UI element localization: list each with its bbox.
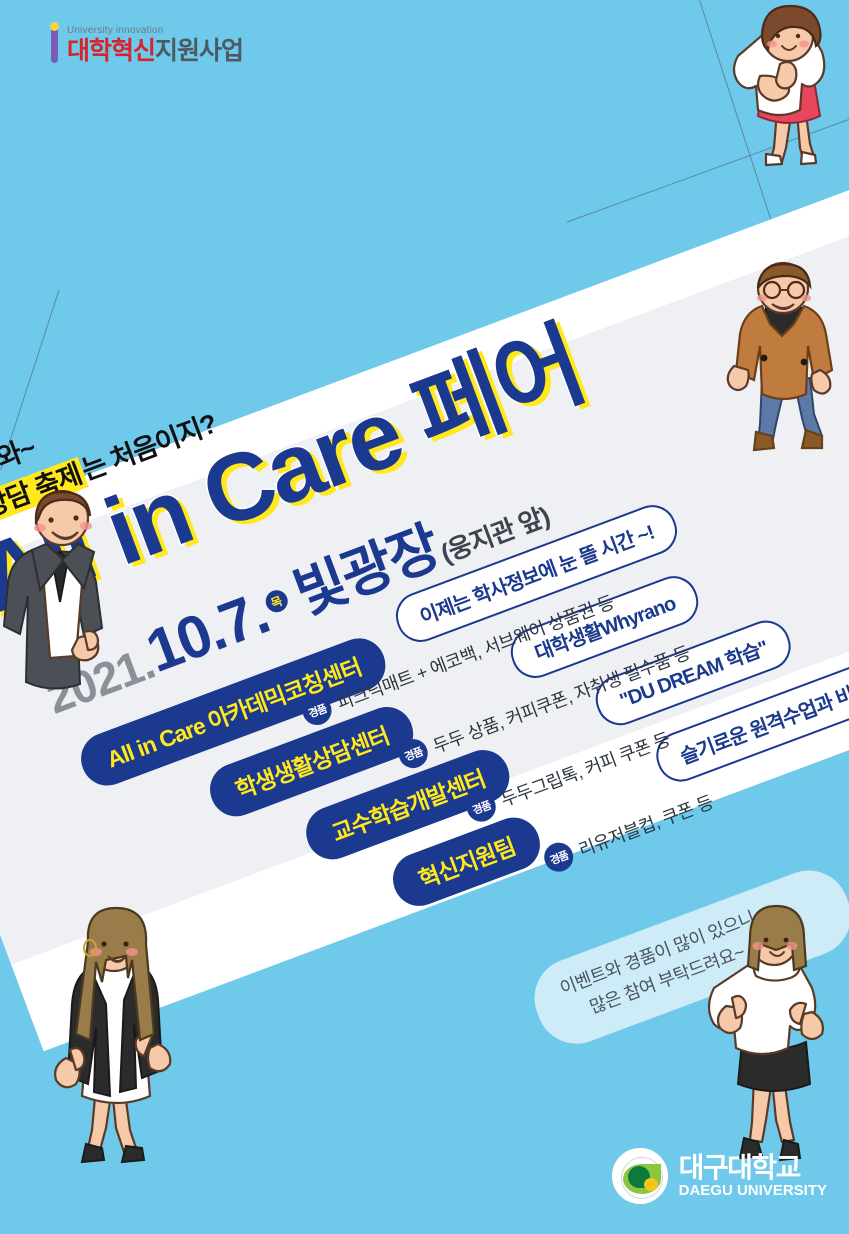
character-man-tan-jacket-glasses — [718, 262, 849, 462]
poster-canvas: University innovation 대학혁신지원사업 어서 와~ 상담 … — [0, 0, 849, 1234]
character-woman-white-sweater-black-skirt — [692, 902, 849, 1164]
logo-english-label: University innovation — [67, 26, 243, 36]
daegu-university-seal-icon — [612, 1148, 668, 1204]
character-woman-white-blouse-red-skirt — [722, 2, 849, 174]
daegu-university-logo: 대구대학교 DAEGU UNIVERSITY — [612, 1148, 827, 1204]
university-name-english: DAEGU UNIVERSITY — [679, 1183, 827, 1199]
university-name-korean: 대구대학교 — [679, 1153, 827, 1182]
character-woman-long-hair-white-dress — [28, 898, 200, 1170]
rainbow-u-mark-icon — [26, 22, 60, 64]
program-prize: 경품 리유저블컵, 쿠폰 등 — [540, 786, 717, 875]
prize-text: 리유저블컵, 쿠폰 등 — [574, 788, 716, 862]
event-day-of-week-badge: 목 — [262, 587, 290, 615]
logo-korean-red: 대학혁신 — [67, 37, 155, 65]
prize-badge-icon: 경품 — [540, 839, 577, 876]
character-man-gray-suit-tie — [0, 490, 132, 690]
